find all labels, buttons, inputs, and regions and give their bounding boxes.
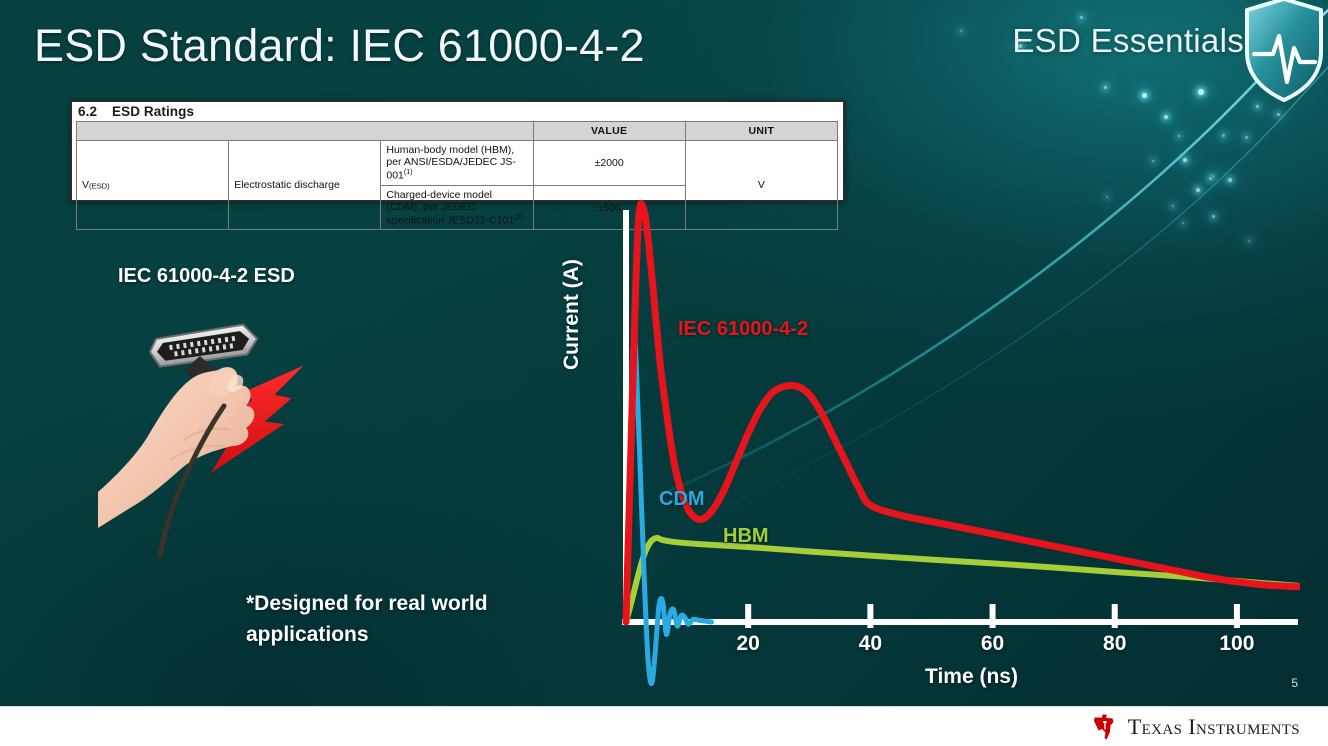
symbol-subscript: (ESD) xyxy=(89,182,110,191)
table-header-unit: UNIT xyxy=(685,122,837,141)
section-number: 6.2 xyxy=(78,104,112,119)
chart-label-iec: IEC 61000-4-2 xyxy=(678,318,808,341)
table-header-blank xyxy=(77,122,534,141)
page-title: ESD Standard: IEC 61000-4-2 xyxy=(34,20,645,72)
cell-description-cdm: Charged-device model (CDM), per JEDEC sp… xyxy=(381,185,533,230)
page-number: 5 xyxy=(1291,676,1298,690)
cell-value-hbm: ±2000 xyxy=(533,141,685,186)
chart-label-cdm: CDM xyxy=(659,488,705,511)
footnote-2: (2) xyxy=(514,212,523,221)
footer-bar: Texas Instruments xyxy=(0,706,1328,746)
shield-pulse-icon xyxy=(1242,0,1326,104)
symbol-text: V xyxy=(82,179,89,191)
esd-ratings-table-card: 6.2ESD Ratings VALUE UNIT V(ESD) Electro… xyxy=(70,100,845,202)
table-header-row: VALUE UNIT xyxy=(77,122,838,141)
hand-holding-hdmi-cable-icon xyxy=(90,260,440,570)
footnote-1: (1) xyxy=(404,167,413,176)
cell-parameter: Electrostatic discharge xyxy=(229,141,381,230)
section-title: ESD Ratings xyxy=(112,104,194,119)
ti-wordmark: Texas Instruments xyxy=(1128,714,1300,740)
real-world-note: *Designed for real world applications xyxy=(246,588,546,650)
chart-label-hbm: HBM xyxy=(723,525,769,548)
esd-ratings-heading: 6.2ESD Ratings xyxy=(72,102,843,121)
chart-tick-label: 100 xyxy=(1219,632,1254,656)
cell-symbol: V(ESD) xyxy=(77,141,229,230)
chart-x-axis-label: Time (ns) xyxy=(925,665,1018,689)
desc-text-cdm: Charged-device model (CDM), per JEDEC sp… xyxy=(386,189,514,227)
esd-waveform-chart xyxy=(560,198,1300,698)
table-header-value: VALUE xyxy=(533,122,685,141)
chart-tick-label: 60 xyxy=(981,632,1004,656)
chart-tick-label: 40 xyxy=(859,632,882,656)
cell-description-hbm: Human-body model (HBM), per ANSI/ESDA/JE… xyxy=(381,141,533,186)
chart-series-hbm xyxy=(626,538,1298,622)
chart-tick-label: 20 xyxy=(736,632,759,656)
slide-canvas: ESD Standard: IEC 61000-4-2 ESD Essentia… xyxy=(0,0,1328,746)
table-row: V(ESD) Electrostatic discharge Human-bod… xyxy=(77,141,838,186)
ti-logo: Texas Instruments xyxy=(1089,711,1300,743)
texas-shape-icon xyxy=(1089,712,1119,742)
series-title: ESD Essentials xyxy=(1012,22,1244,60)
chart-tick-label: 80 xyxy=(1103,632,1126,656)
